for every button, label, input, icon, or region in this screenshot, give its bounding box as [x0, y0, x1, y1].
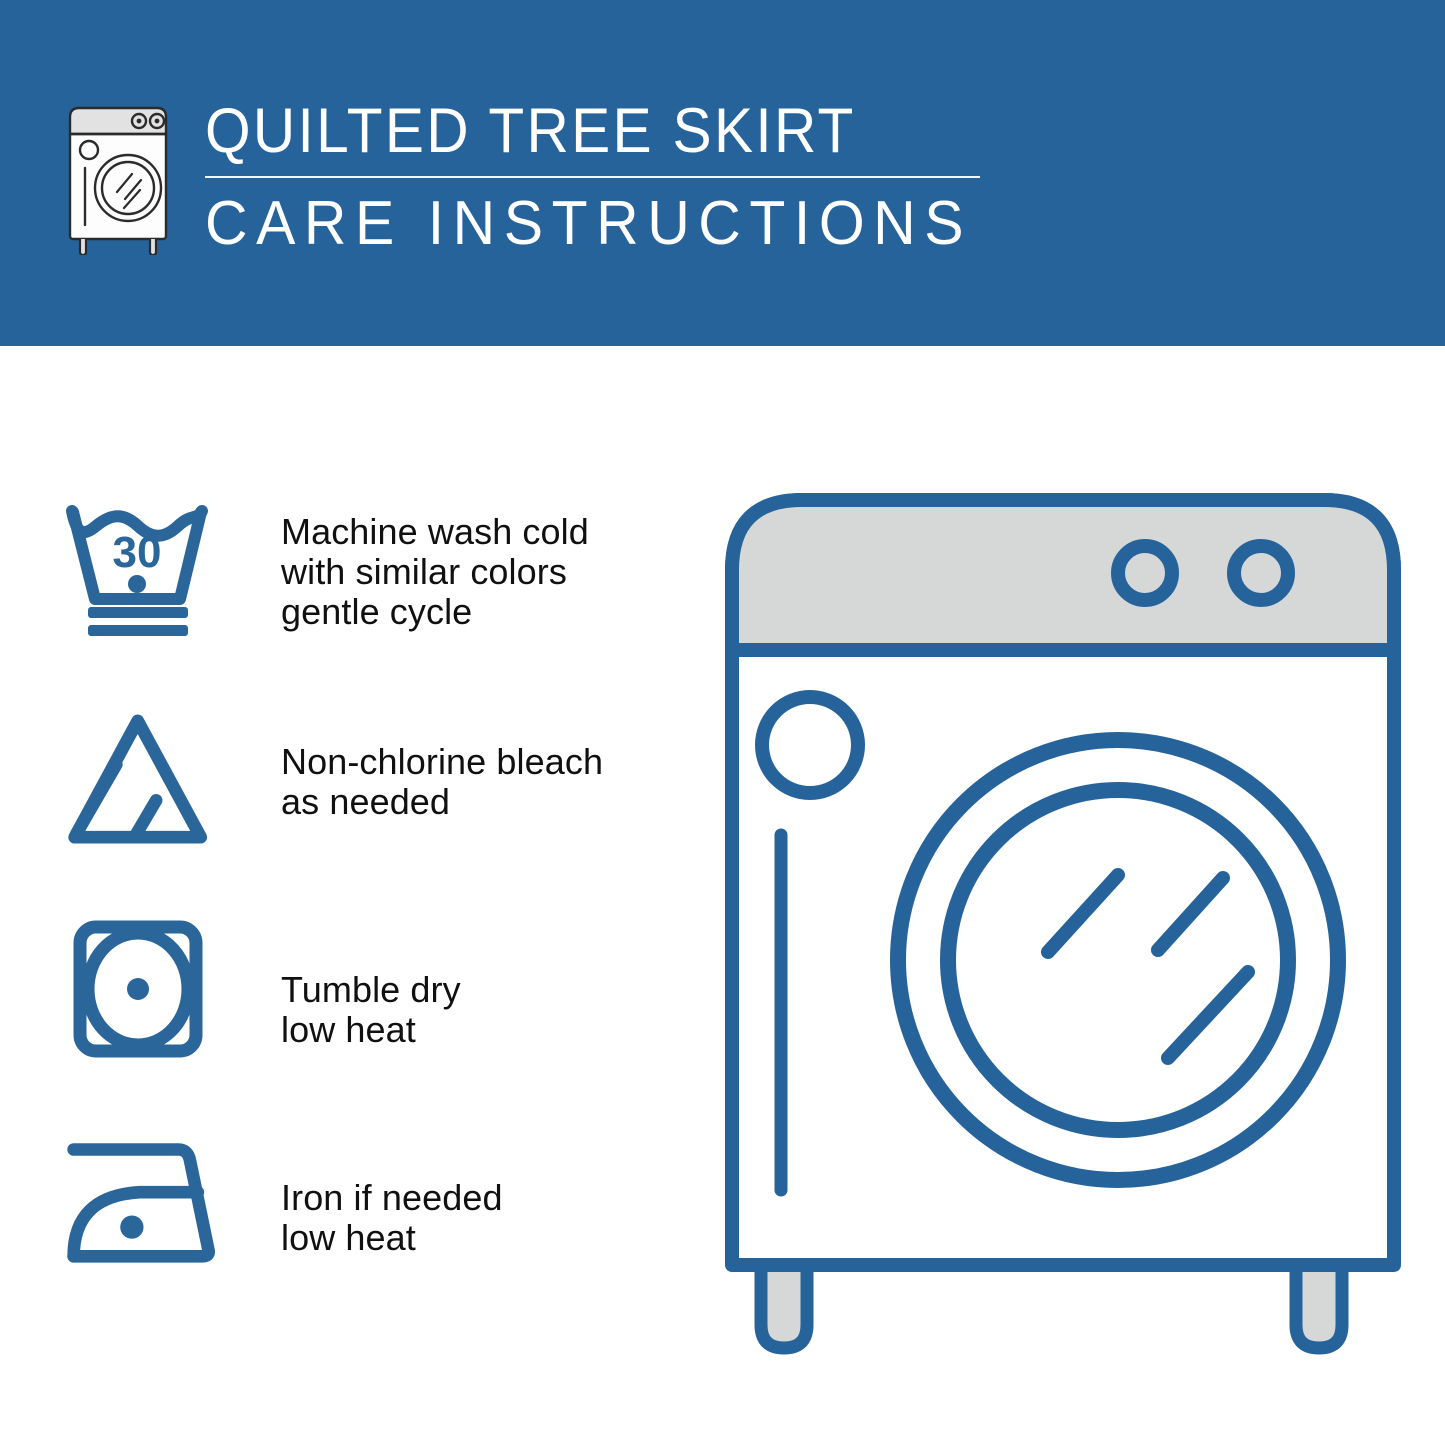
care-item-text: Tumble dry low heat — [227, 908, 682, 1050]
care-line: low heat — [281, 1010, 682, 1050]
care-item-bleach: Non-chlorine bleach as needed — [62, 698, 682, 908]
washing-machine-illustration — [718, 480, 1408, 1370]
wash-temperature-label: 30 — [113, 528, 162, 577]
tumble-dry-icon — [62, 908, 227, 1064]
header-band: QUILTED TREE SKIRT CARE INSTRUCTIONS — [0, 0, 1445, 346]
care-line: low heat — [281, 1218, 682, 1258]
care-line: as needed — [281, 782, 682, 822]
care-line: gentle cycle — [281, 592, 682, 632]
page-title: QUILTED TREE SKIRT — [205, 96, 940, 166]
wash-tub-30-icon: 30 — [62, 488, 227, 644]
care-line: Non-chlorine bleach — [281, 742, 682, 782]
care-item-machine-wash: 30 Machine wash cold with similar colors… — [62, 488, 682, 698]
care-line: with similar colors — [281, 552, 682, 592]
care-line: Machine wash cold — [281, 512, 682, 552]
care-item-text: Machine wash cold with similar colors ge… — [227, 488, 682, 632]
title-divider — [205, 176, 980, 178]
care-instructions-infographic: QUILTED TREE SKIRT CARE INSTRUCTIONS 30 — [0, 0, 1445, 1445]
bleach-triangle-icon — [62, 698, 227, 854]
care-item-text: Iron if needed low heat — [227, 1118, 682, 1258]
care-instruction-list: 30 Machine wash cold with similar colors… — [62, 488, 682, 1328]
iron-icon — [62, 1118, 227, 1274]
care-line: Iron if needed — [281, 1178, 682, 1218]
care-line: Tumble dry — [281, 970, 682, 1010]
care-item-tumble-dry: Tumble dry low heat — [62, 908, 682, 1118]
care-item-text: Non-chlorine bleach as needed — [227, 698, 682, 822]
washing-machine-icon — [62, 100, 182, 255]
care-item-iron: Iron if needed low heat — [62, 1118, 682, 1328]
header-text-block: QUILTED TREE SKIRT CARE INSTRUCTIONS — [205, 96, 995, 258]
page-subtitle: CARE INSTRUCTIONS — [205, 190, 956, 258]
